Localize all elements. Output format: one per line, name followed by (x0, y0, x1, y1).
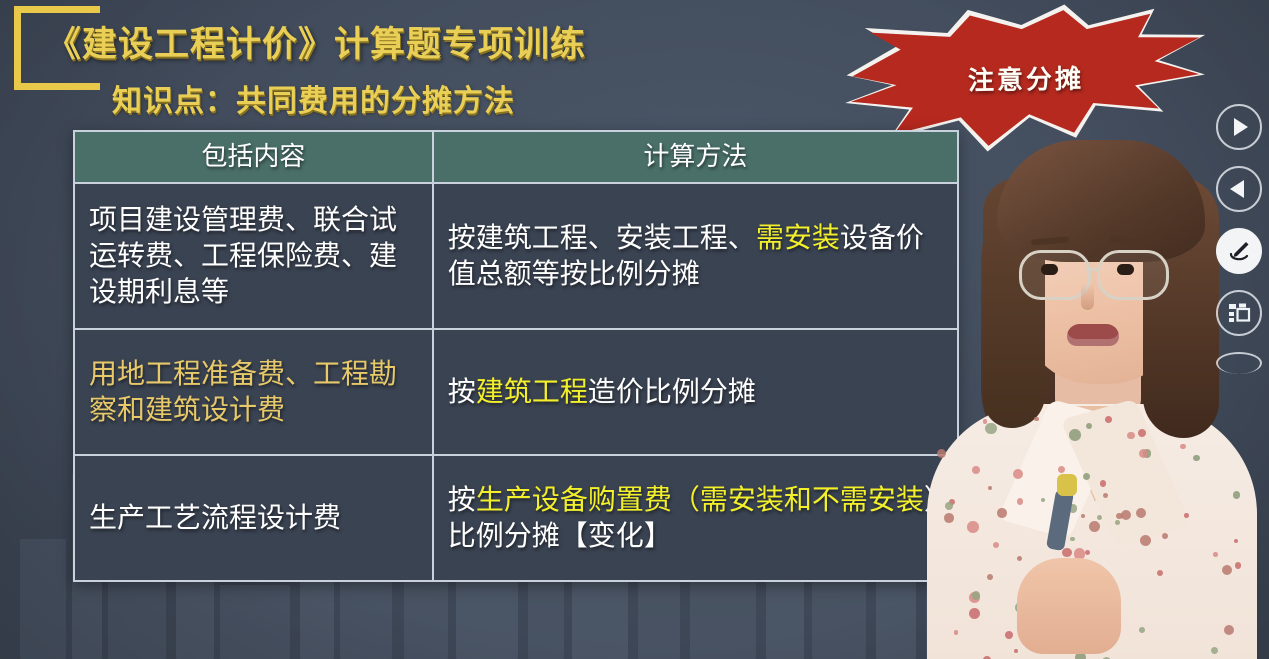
play-triangle-left-icon (1230, 180, 1244, 198)
table-row: 生产工艺流程设计费按生产设备购置费（需安装和不需安装）比例分摊【变化】 (74, 455, 958, 581)
floral-motif (1157, 570, 1163, 576)
text-span-white: 生产工艺流程设计费 (89, 502, 341, 533)
presenter-eye-right (1117, 264, 1134, 275)
table-cell-content: 用地工程准备费、工程勘察和建筑设计费 (74, 329, 433, 455)
presenter-glasses-bridge (1085, 268, 1099, 271)
table-row: 项目建设管理费、联合试运转费、工程保险费、建设期利息等按建筑工程、安装工程、需安… (74, 183, 958, 329)
slide-stage: 《建设工程计价》计算题专项训练 知识点：共同费用的分摊方法 注意分摊 包括内容 … (0, 0, 1269, 659)
table-cell-content: 项目建设管理费、联合试运转费、工程保险费、建设期利息等 (74, 183, 433, 329)
floral-motif (985, 423, 997, 435)
floral-motif (1222, 565, 1232, 575)
column-header-content: 包括内容 (74, 131, 433, 183)
play-forward-button[interactable] (1216, 104, 1262, 150)
floral-motif (997, 508, 1006, 517)
page-title: 《建设工程计价》计算题专项训练 (46, 16, 586, 67)
floral-motif (944, 513, 953, 522)
table-row: 用地工程准备费、工程勘察和建筑设计费按建筑工程造价比例分摊 (74, 329, 958, 455)
floral-motif (1005, 631, 1013, 639)
table-cell-method: 按建筑工程造价比例分摊 (433, 329, 958, 455)
floral-motif (1058, 466, 1065, 473)
presenter-eye-left (1041, 264, 1058, 275)
pen-icon (1226, 238, 1252, 264)
floral-motif (1013, 469, 1023, 479)
step-back-button[interactable] (1216, 166, 1262, 212)
text-span-white: 按 (448, 484, 476, 515)
floral-motif (1139, 627, 1145, 633)
floral-motif (1224, 625, 1234, 635)
text-span-gold: 用地工程准备费、工程勘察和建筑设计费 (89, 358, 397, 425)
floral-motif (967, 521, 979, 533)
floral-motif (1139, 449, 1148, 458)
text-span-highlight: 生产设备购置费（需安装和不需安装 (476, 484, 924, 515)
text-span-white: 按建筑工程、安装工程、 (448, 222, 756, 253)
layout-grid-icon (1227, 301, 1251, 325)
floral-motif (1089, 521, 1100, 532)
floral-motif (972, 466, 980, 474)
presenter-hair-fringe (997, 140, 1205, 262)
floral-motif (1103, 493, 1108, 498)
play-triangle-right-icon (1234, 118, 1248, 136)
floral-motif (1184, 513, 1189, 518)
column-header-method: 计算方法 (433, 131, 958, 183)
floral-motif (1100, 480, 1107, 487)
floral-motif (1140, 535, 1151, 546)
presenter-hand (1017, 558, 1121, 654)
floral-motif (1017, 498, 1024, 505)
table-header-row: 包括内容 计算方法 (74, 131, 958, 183)
floral-motif (1069, 429, 1081, 441)
floral-motif (1127, 432, 1134, 439)
microphone-tip (1057, 474, 1077, 496)
text-span-white: 按 (448, 376, 476, 407)
floral-motif (1085, 550, 1090, 555)
starburst-label: 注意分摊 (846, 56, 1207, 99)
floral-motif (1062, 548, 1071, 557)
floral-motif (1070, 537, 1075, 542)
floral-motif (1081, 514, 1085, 518)
floral-motif (1213, 552, 1218, 557)
floral-motif (1034, 417, 1038, 421)
allocation-table: 包括内容 计算方法 项目建设管理费、联合试运转费、工程保险费、建设期利息等按建筑… (73, 130, 959, 582)
table-cell-content: 生产工艺流程设计费 (74, 455, 433, 581)
text-span-highlight: 建筑工程 (476, 376, 588, 407)
floral-motif (1105, 416, 1112, 423)
table-cell-method: 按生产设备购置费（需安装和不需安装）比例分摊【变化】 (433, 455, 958, 581)
floral-motif (954, 630, 959, 635)
presenter-glasses-right (1097, 250, 1169, 300)
floral-motif (1162, 533, 1168, 539)
table-body: 项目建设管理费、联合试运转费、工程保险费、建设期利息等按建筑工程、安装工程、需安… (74, 183, 958, 581)
layout-button[interactable] (1216, 290, 1262, 336)
text-span-white: 项目建设管理费、联合试运转费、工程保险费、建设期利息等 (89, 204, 397, 307)
annotate-pen-button[interactable] (1216, 228, 1262, 274)
page-subtitle: 知识点：共同费用的分摊方法 (112, 76, 515, 120)
floral-motif (1115, 520, 1120, 525)
player-control-rail (1215, 104, 1263, 390)
table-cell-method: 按建筑工程、安装工程、需安装设备价值总额等按比例分摊 (433, 183, 958, 329)
text-span-white: 造价比例分摊 (588, 376, 756, 407)
presenter-mouth (1067, 324, 1119, 346)
text-span-highlight: 需安装 (756, 222, 840, 253)
floral-motif (972, 591, 981, 600)
presenter-nose (1081, 284, 1094, 310)
floral-motif (1233, 491, 1241, 499)
floral-motif (1193, 455, 1200, 462)
more-button[interactable] (1216, 352, 1262, 374)
floral-motif (1014, 649, 1018, 653)
